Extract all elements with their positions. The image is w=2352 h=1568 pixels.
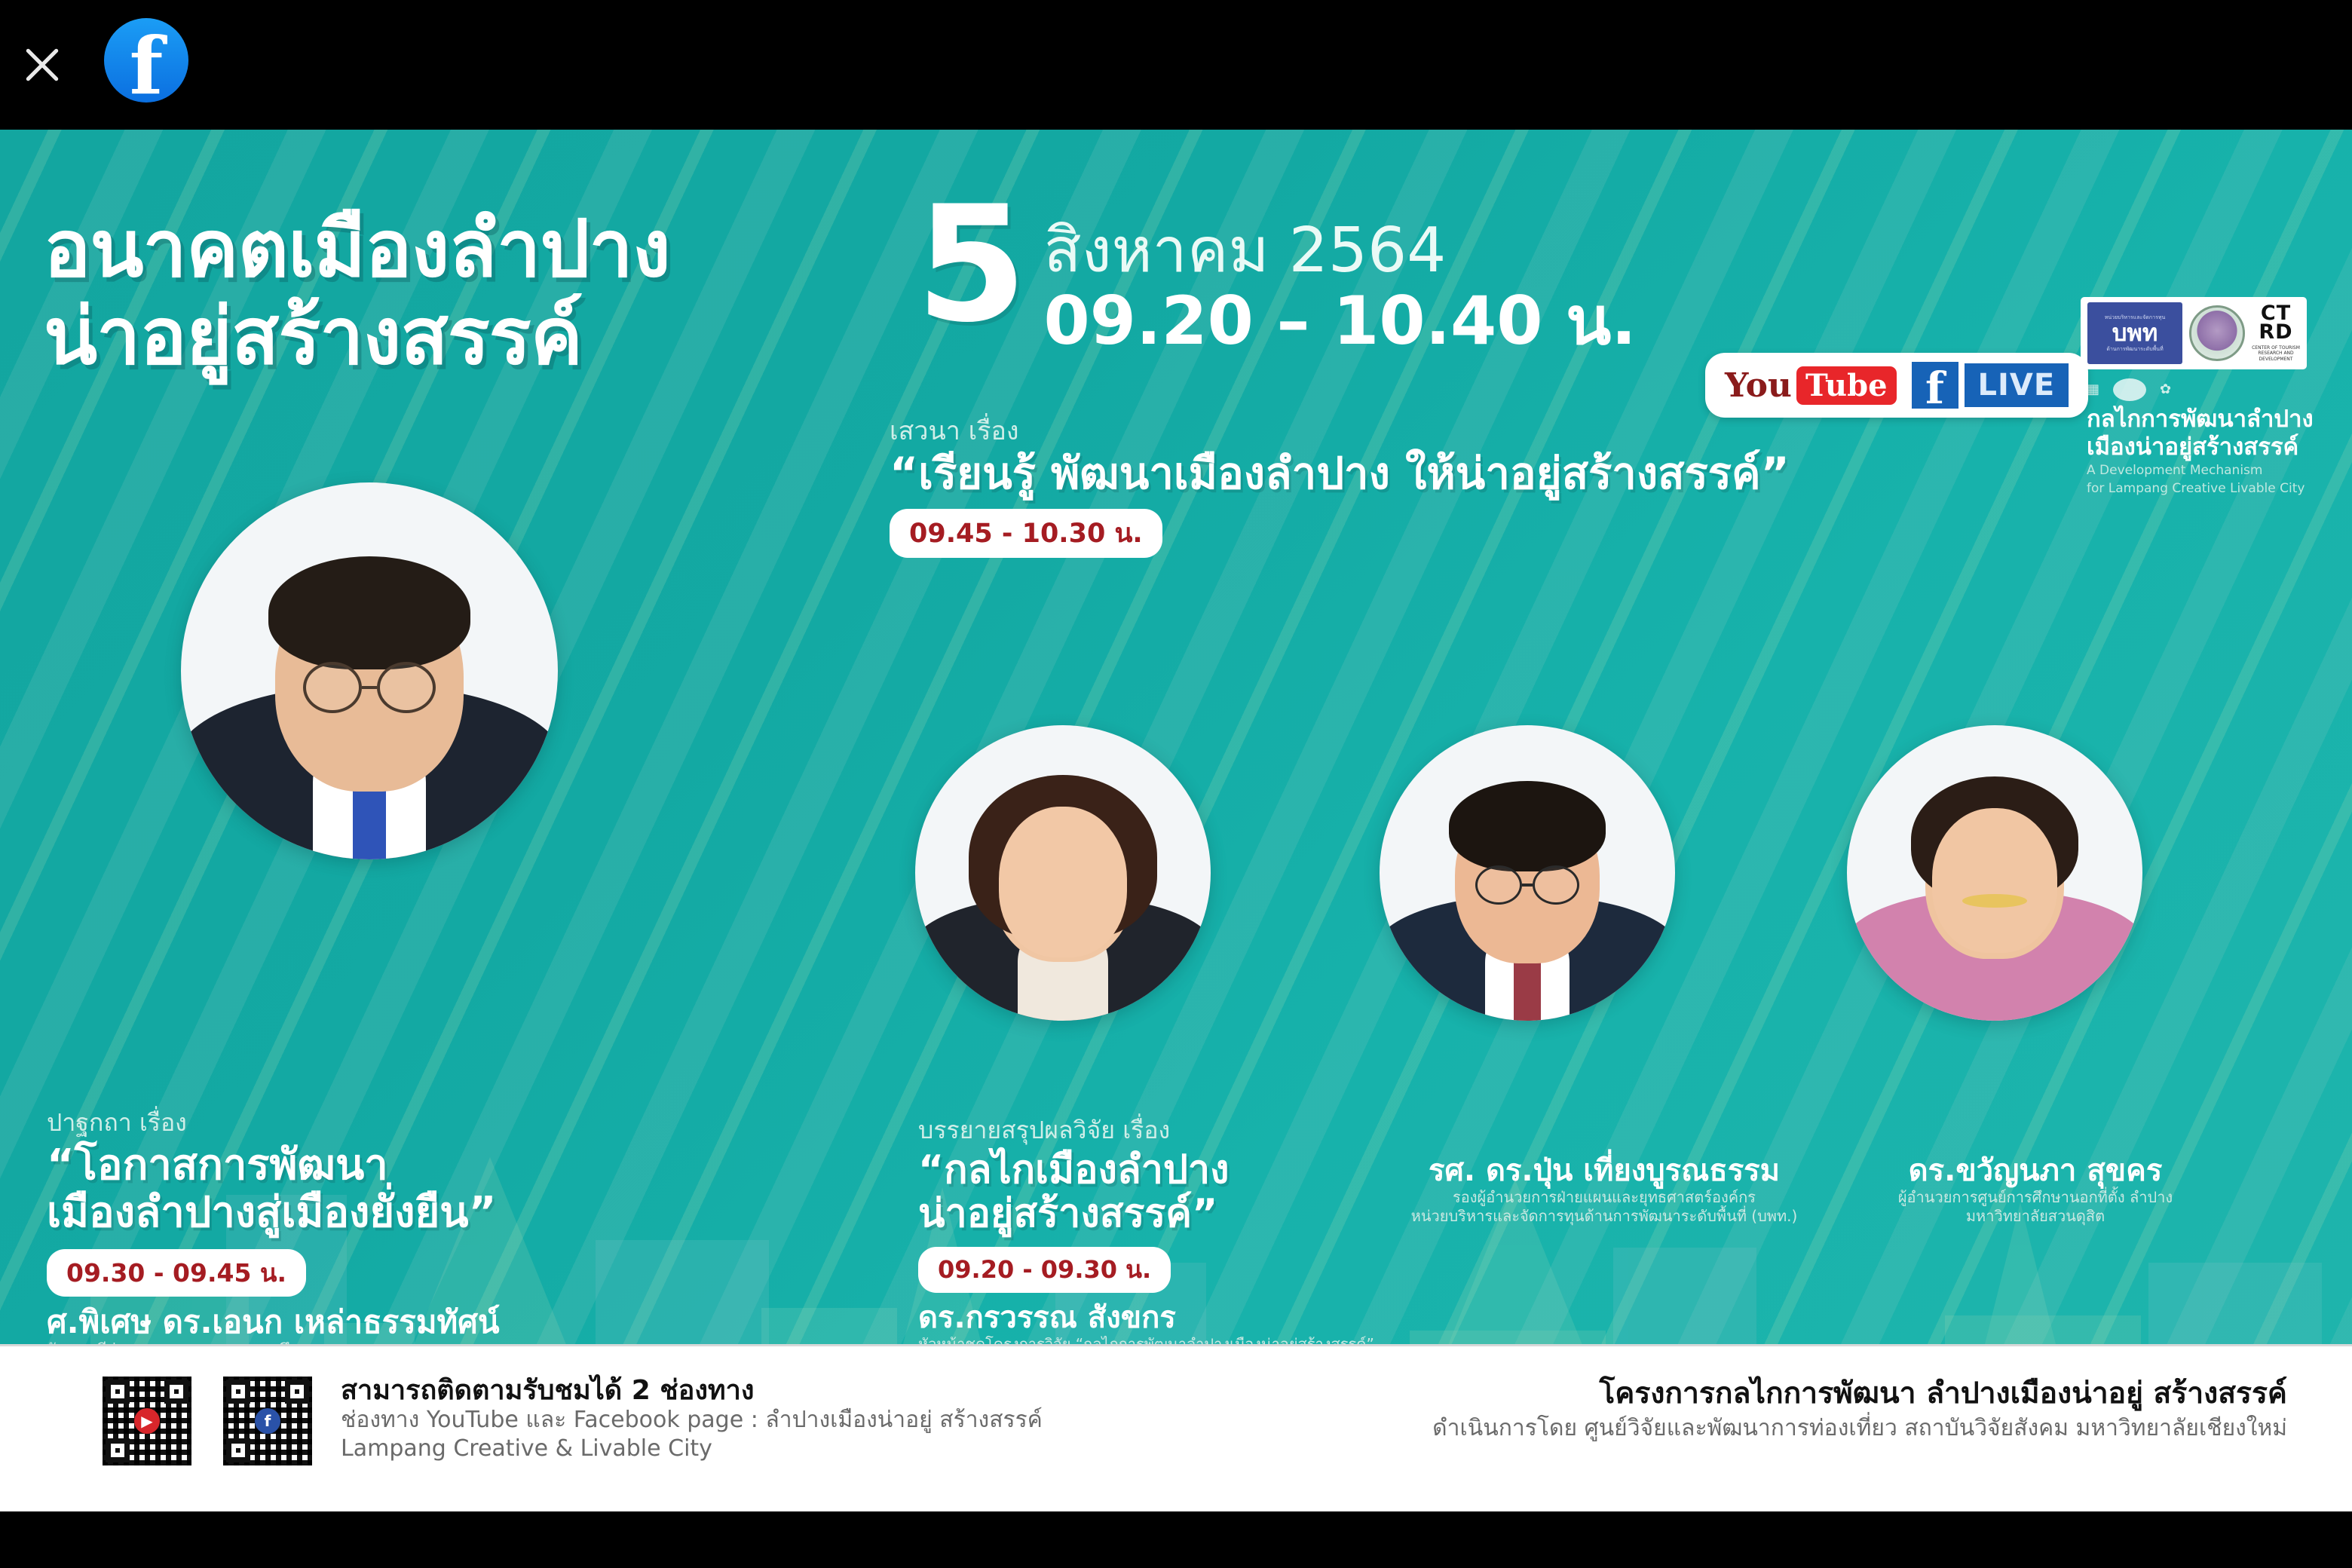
university-seal-icon (2189, 305, 2245, 361)
speaker-portrait-3 (1380, 725, 1675, 1021)
footer-left-line-2: Lampang Creative & Livable City (341, 1435, 1043, 1462)
org-caption-th-1: กลไกการพัฒนาลำปาง (2087, 406, 2328, 433)
session-3-speaker-role-2: หน่วยบริหารและจัดการทุนด้านการพัฒนาระดับ… (1370, 1207, 1838, 1226)
event-poster: อนาคตเมืองลำปาง น่าอยู่สร้างสรรค์ 5 สิงห… (0, 130, 2352, 1511)
facebook-square-icon: f (1912, 362, 1958, 409)
organization-logo-bar: หน่วยบริหารและจัดการทุน บพท ด้านการพัฒนา… (2081, 297, 2307, 369)
org-caption-en-1: A Development Mechanism (2087, 463, 2328, 479)
youtube-logo: You Tube (1725, 366, 1897, 405)
session-1-kicker: ปาฐกถา เรื่อง (47, 1110, 605, 1136)
session-block-4: ดร.ขวัญนภา สุขคร ผู้อำนวยการศูนย์การศึกษ… (1824, 1153, 2246, 1226)
session-1-speaker-name: ศ.พิเศษ ดร.เอนก เหล่าธรรมทัศน์ (47, 1304, 605, 1340)
speaker-portrait-1 (181, 482, 558, 859)
session-2-title-line-1: “กลไกเมืองลำปาง (918, 1148, 1431, 1192)
session-2-speaker-name: ดร.กรวรรณ สังขกร (918, 1300, 1431, 1335)
poster-footer: ▶ f สามารถติดตามรับชมได้ 2 ช่องทาง ช่องท… (0, 1344, 2352, 1511)
ctrd-line-2: RD (2259, 323, 2292, 342)
bpt-main-text: บพท (2112, 322, 2158, 345)
top-chrome-bar: f (0, 0, 2352, 130)
qr-youtube-center-icon: ▶ (134, 1408, 160, 1434)
session-2-time-pill: 09.20 - 09.30 น. (918, 1247, 1171, 1293)
footer-right-heading: โครงการกลไกการพัฒนา ลำปางเมืองน่าอยู่ สร… (1432, 1377, 2287, 1411)
seminar-kicker: เสวนา เรื่อง (890, 418, 1790, 446)
session-block-2: บรรยายสรุปผลวิจัย เรื่อง “กลไกเมืองลำปาง… (918, 1117, 1431, 1353)
event-date-block: 5 สิงหาคม 2564 09.20 – 10.40 น. (916, 199, 1637, 357)
facebook-video-viewer: f อนาคตเมืองลำปาง น่ (0, 0, 2352, 1568)
qr-code-youtube: ▶ (103, 1377, 191, 1465)
org-caption-en-2: for Lampang Creative Livable City (2087, 481, 2328, 497)
footer-left-heading: สามารถติดตามรับชมได้ 2 ช่องทาง (341, 1375, 1043, 1406)
facebook-logo-button[interactable]: f (104, 18, 188, 103)
event-time-range: 09.20 – 10.40 น. (1044, 285, 1637, 357)
youtube-you-text: You (1725, 366, 1792, 405)
close-button[interactable] (6, 29, 78, 101)
org-caption-th-2: เมืองน่าอยู่สร้างสรรค์ (2087, 433, 2328, 461)
bpt-logo: หน่วยบริหารและจัดการทุน บพท ด้านการพัฒนา… (2087, 302, 2182, 364)
headline-line-1: อนาคตเมืองลำปาง (44, 205, 880, 292)
seminar-header: เสวนา เรื่อง “เรียนรู้ พัฒนาเมืองลำปาง ใ… (890, 418, 1790, 558)
session-4-speaker-role-1: ผู้อำนวยการศูนย์การศึกษานอกที่ตั้ง ลำปาง (1824, 1188, 2246, 1207)
qr-facebook-center-icon: f (255, 1408, 280, 1434)
session-4-speaker-name: ดร.ขวัญนภา สุขคร (1824, 1153, 2246, 1188)
speaker-portrait-4 (1847, 725, 2142, 1021)
seminar-time-pill: 09.45 - 10.30 น. (890, 509, 1162, 558)
live-stream-badge: You Tube f LIVE (1705, 353, 2088, 418)
close-icon (21, 44, 63, 86)
youtube-tube-text: Tube (1796, 366, 1897, 405)
headline-line-2: น่าอยู่สร้างสรรค์ (44, 292, 880, 380)
poster-headline: อนาคตเมืองลำปาง น่าอยู่สร้างสรรค์ (44, 205, 880, 381)
speaker-portrait-2 (915, 725, 1211, 1021)
facebook-logo-letter: f (130, 30, 164, 103)
footer-right-text: โครงการกลไกการพัฒนา ลำปางเมืองน่าอยู่ สร… (1432, 1377, 2287, 1443)
footer-right-sub: ดำเนินการโดย ศูนย์วิจัยและพัฒนาการท่องเท… (1432, 1414, 2287, 1443)
live-label: LIVE (1965, 363, 2069, 407)
event-day-number: 5 (916, 199, 1027, 330)
session-1-time-pill: 09.30 - 09.45 น. (47, 1249, 306, 1297)
partner-icons-row: ▦ ✿ (2087, 378, 2328, 401)
bpt-bottom-text: ด้านการพัฒนาระดับพื้นที่ (2106, 347, 2163, 352)
organization-caption: ▦ ✿ กลไกการพัฒนาลำปาง เมืองน่าอยู่สร้างส… (2087, 378, 2328, 497)
session-block-1: ปาฐกถา เรื่อง “โอกาสการพัฒนา เมืองลำปางส… (47, 1110, 605, 1381)
session-block-3: รศ. ดร.ปุ่น เที่ยงบูรณธรรม รองผู้อำนวยกา… (1370, 1153, 1838, 1226)
bottom-chrome-bar (0, 1511, 2352, 1568)
event-month-year: สิงหาคม 2564 (1044, 220, 1637, 282)
seminar-title: “เรียนรู้ พัฒนาเมืองลำปาง ให้น่าอยู่สร้า… (890, 450, 1790, 498)
qr-code-facebook: f (223, 1377, 312, 1465)
session-2-title-line-2: น่าอยู่สร้างสรรค์” (918, 1192, 1431, 1236)
session-3-speaker-name: รศ. ดร.ปุ่น เที่ยงบูรณธรรม (1370, 1153, 1838, 1188)
footer-left-text: สามารถติดตามรับชมได้ 2 ช่องทาง ช่องทาง Y… (341, 1375, 1043, 1462)
facebook-live-logo: f LIVE (1912, 362, 2069, 409)
partner-icon-2 (2113, 378, 2146, 401)
session-2-kicker: บรรยายสรุปผลวิจัย เรื่อง (918, 1117, 1431, 1144)
session-1-title-line-1: “โอกาสการพัฒนา (47, 1142, 605, 1190)
ctrd-logo: CT RD CENTER OF TOURISM RESEARCH AND DEV… (2252, 305, 2300, 362)
ctrd-subtext: CENTER OF TOURISM RESEARCH AND DEVELOPME… (2252, 345, 2300, 363)
partner-icon-3: ✿ (2160, 383, 2171, 397)
partner-icon-1: ▦ (2087, 383, 2099, 397)
facebook-f-letter: f (1925, 369, 1944, 409)
footer-left-line-1: ช่องทาง YouTube และ Facebook page : ลำปา… (341, 1406, 1043, 1434)
session-1-title-line-2: เมืองลำปางสู่เมืองยั่งยืน” (47, 1190, 605, 1237)
session-4-speaker-role-2: มหาวิทยาลัยสวนดุสิต (1824, 1207, 2246, 1226)
session-3-speaker-role-1: รองผู้อำนวยการฝ่ายแผนและยุทธศาสตร์องค์กร (1370, 1188, 1838, 1207)
